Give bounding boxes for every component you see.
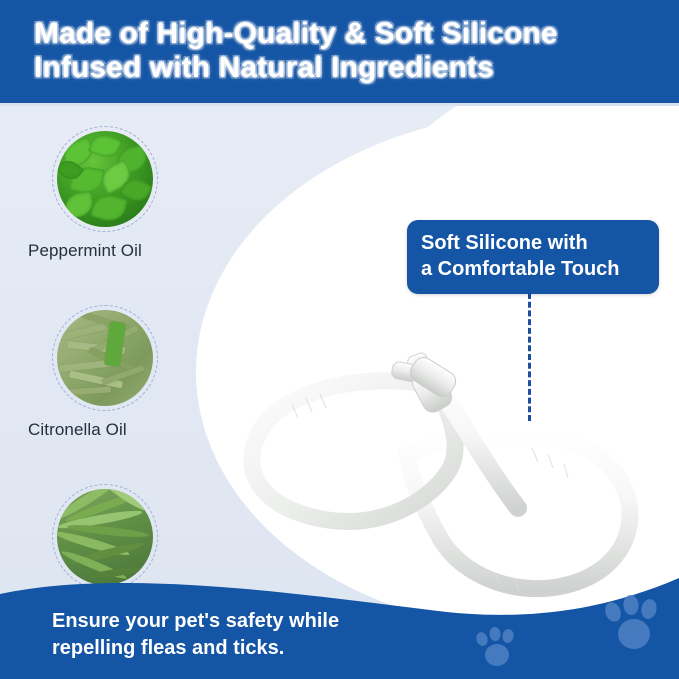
header-title-line-1: Made of High-Quality & Soft Silicone xyxy=(34,17,654,51)
callout-line-1: Soft Silicone with xyxy=(421,230,645,256)
footer-line-1: Ensure your pet's safety while xyxy=(52,608,452,635)
header-divider xyxy=(0,103,679,106)
ingredient-label-peppermint: Peppermint Oil xyxy=(0,241,210,261)
product-image-collar xyxy=(232,276,662,606)
footer-line-2: repelling fleas and ticks. xyxy=(52,635,452,662)
callout-badge-soft-silicone: Soft Silicone with a Comfortable Touch xyxy=(407,220,659,294)
ingredient-circle-frame xyxy=(52,126,158,232)
footer-banner: Ensure your pet's safety while repelling… xyxy=(0,560,679,679)
ingredient-list: Peppermint Oil Citronella Oil xyxy=(0,112,210,629)
ingredient-item-citronella: Citronella Oil xyxy=(0,305,210,440)
header-text-block: Made of High-Quality & Soft Silicone Inf… xyxy=(34,17,654,85)
peppermint-leaves-photo xyxy=(57,131,153,227)
citronella-stalks-photo xyxy=(57,310,153,406)
footer-text-block: Ensure your pet's safety while repelling… xyxy=(52,608,452,662)
ingredient-label-citronella: Citronella Oil xyxy=(0,420,210,440)
header-title-line-2: Infused with Natural Ingredients xyxy=(34,51,654,85)
callout-line-2: a Comfortable Touch xyxy=(421,256,645,282)
header-banner: Made of High-Quality & Soft Silicone Inf… xyxy=(0,0,679,106)
infographic-canvas: Made of High-Quality & Soft Silicone Inf… xyxy=(0,0,679,679)
callout-connector-line xyxy=(528,293,531,421)
ingredient-item-peppermint: Peppermint Oil xyxy=(0,126,210,261)
ingredient-circle-frame xyxy=(52,305,158,411)
